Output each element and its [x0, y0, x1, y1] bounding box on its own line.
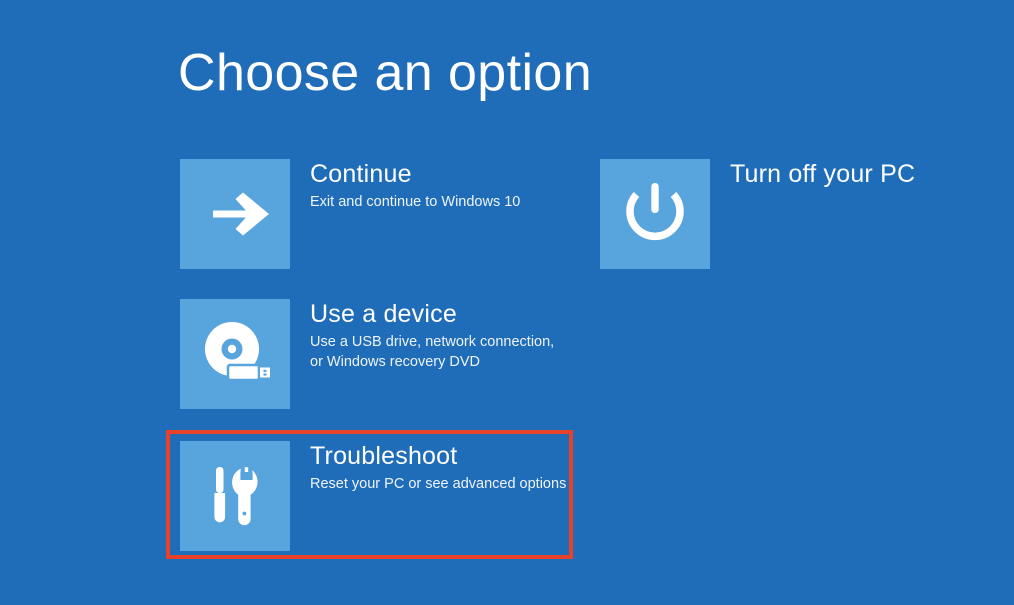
option-continue-title: Continue: [310, 159, 520, 189]
option-use-a-device-subtitle-line1: Use a USB drive, network connection,: [310, 332, 554, 352]
option-troubleshoot-tile[interactable]: [180, 441, 290, 551]
option-use-a-device-text: Use a device Use a USB drive, network co…: [310, 299, 554, 372]
option-troubleshoot-title: Troubleshoot: [310, 441, 566, 471]
option-troubleshoot-subtitle: Reset your PC or see advanced options: [310, 474, 566, 494]
option-turn-off-your-pc-title: Turn off your PC: [730, 159, 915, 189]
option-use-a-device-subtitle: Use a USB drive, network connection, or …: [310, 332, 554, 372]
option-continue-tile[interactable]: [180, 159, 290, 269]
option-use-a-device-subtitle-line2: or Windows recovery DVD: [310, 352, 554, 372]
option-continue-subtitle-line1: Exit and continue to Windows 10: [310, 192, 520, 212]
option-continue-text: Continue Exit and continue to Windows 10: [310, 159, 520, 212]
page-title: Choose an option: [178, 44, 592, 104]
option-use-a-device-title: Use a device: [310, 299, 554, 329]
option-use-a-device-tile[interactable]: [180, 299, 290, 409]
power-icon: [600, 159, 710, 269]
option-turn-off-your-pc-text: Turn off your PC: [730, 159, 915, 189]
option-troubleshoot-subtitle-line1: Reset your PC or see advanced options: [310, 474, 566, 494]
disc-usb-icon: [180, 299, 290, 409]
option-troubleshoot-text: Troubleshoot Reset your PC or see advanc…: [310, 441, 566, 494]
option-continue-subtitle: Exit and continue to Windows 10: [310, 192, 520, 212]
choose-an-option-screen: Choose an option Continue Exit and conti…: [0, 0, 1014, 605]
arrow-right-icon: [180, 159, 290, 269]
option-turn-off-your-pc[interactable]: Turn off your PC: [600, 159, 915, 269]
option-use-a-device[interactable]: Use a device Use a USB drive, network co…: [180, 299, 554, 409]
option-turn-off-your-pc-tile[interactable]: [600, 159, 710, 269]
option-troubleshoot[interactable]: Troubleshoot Reset your PC or see advanc…: [180, 441, 566, 551]
option-continue[interactable]: Continue Exit and continue to Windows 10: [180, 159, 520, 269]
screwdriver-wrench-icon: [180, 441, 290, 551]
